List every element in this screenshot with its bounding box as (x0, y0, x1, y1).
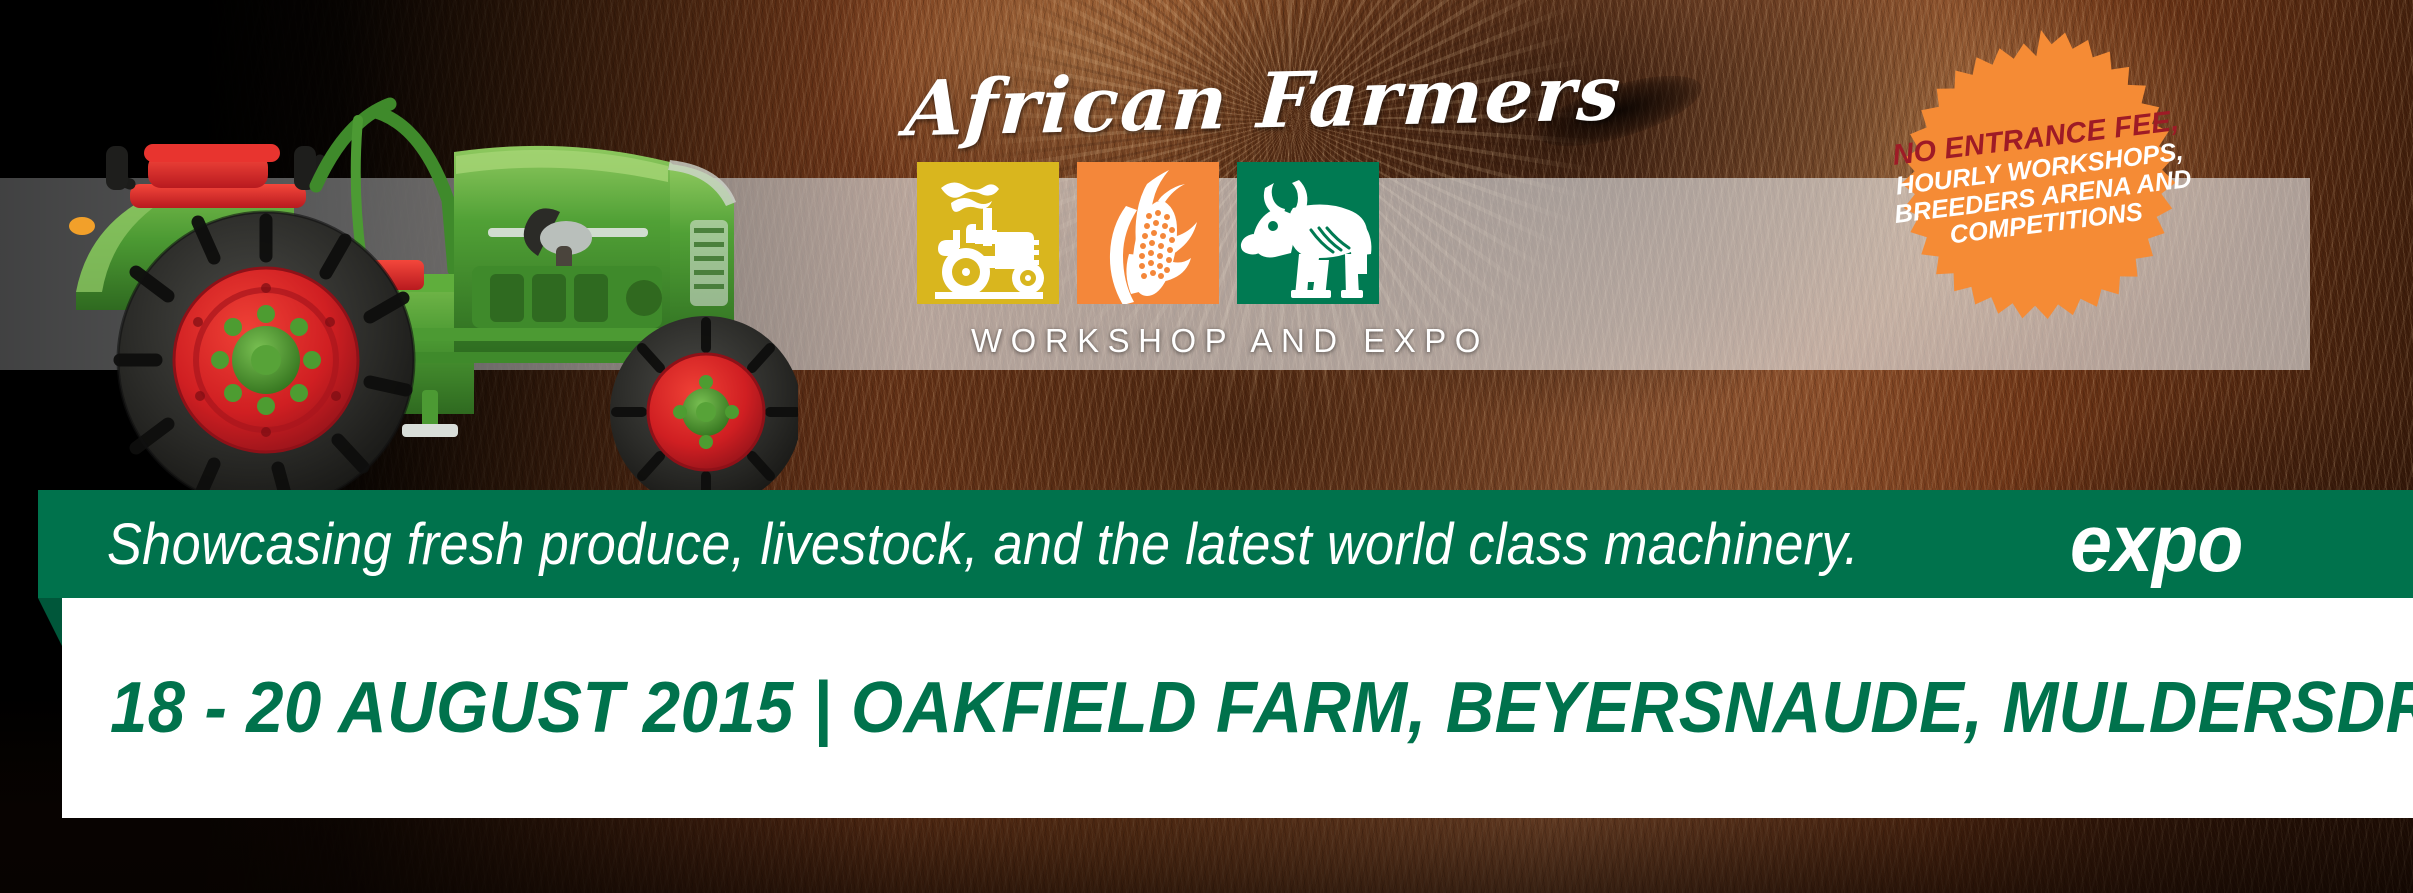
event-banner: African Farmers (0, 0, 2413, 893)
vintage-tractor-photo (58, 60, 798, 510)
expo-wordmark: expo (2070, 507, 2242, 581)
cow-icon (1237, 162, 1379, 304)
african-farmers-logo: African Farmers (905, 48, 1555, 428)
tagline-ribbon-inner: Showcasing fresh produce, livestock, and… (38, 490, 2413, 598)
event-date-venue-line: 18 - 20 AUGUST 2015 | OAKFIELD FARM, BEY… (110, 667, 2413, 749)
maize-cob-icon (1077, 162, 1219, 304)
logo-script-wordmark: African Farmers (902, 41, 1559, 166)
logo-icon-tiles (917, 162, 1379, 304)
tagline-text: Showcasing fresh produce, livestock, and… (107, 511, 1859, 578)
tractor-icon (917, 162, 1059, 304)
event-details-box: 18 - 20 AUGUST 2015 | OAKFIELD FARM, BEY… (62, 598, 2413, 818)
logo-subtitle: WORKSHOP AND EXPO (905, 322, 1555, 360)
badge-text-block: NO ENTRANCE FEE, HOURLY WORKSHOPS, BREED… (1870, 10, 2211, 351)
tile-crops (1077, 162, 1219, 304)
tagline-ribbon: Showcasing fresh produce, livestock, and… (38, 490, 2413, 598)
tile-machinery (917, 162, 1059, 304)
tile-livestock (1237, 162, 1379, 304)
no-entrance-fee-badge: NO ENTRANCE FEE, HOURLY WORKSHOPS, BREED… (1888, 28, 2194, 334)
